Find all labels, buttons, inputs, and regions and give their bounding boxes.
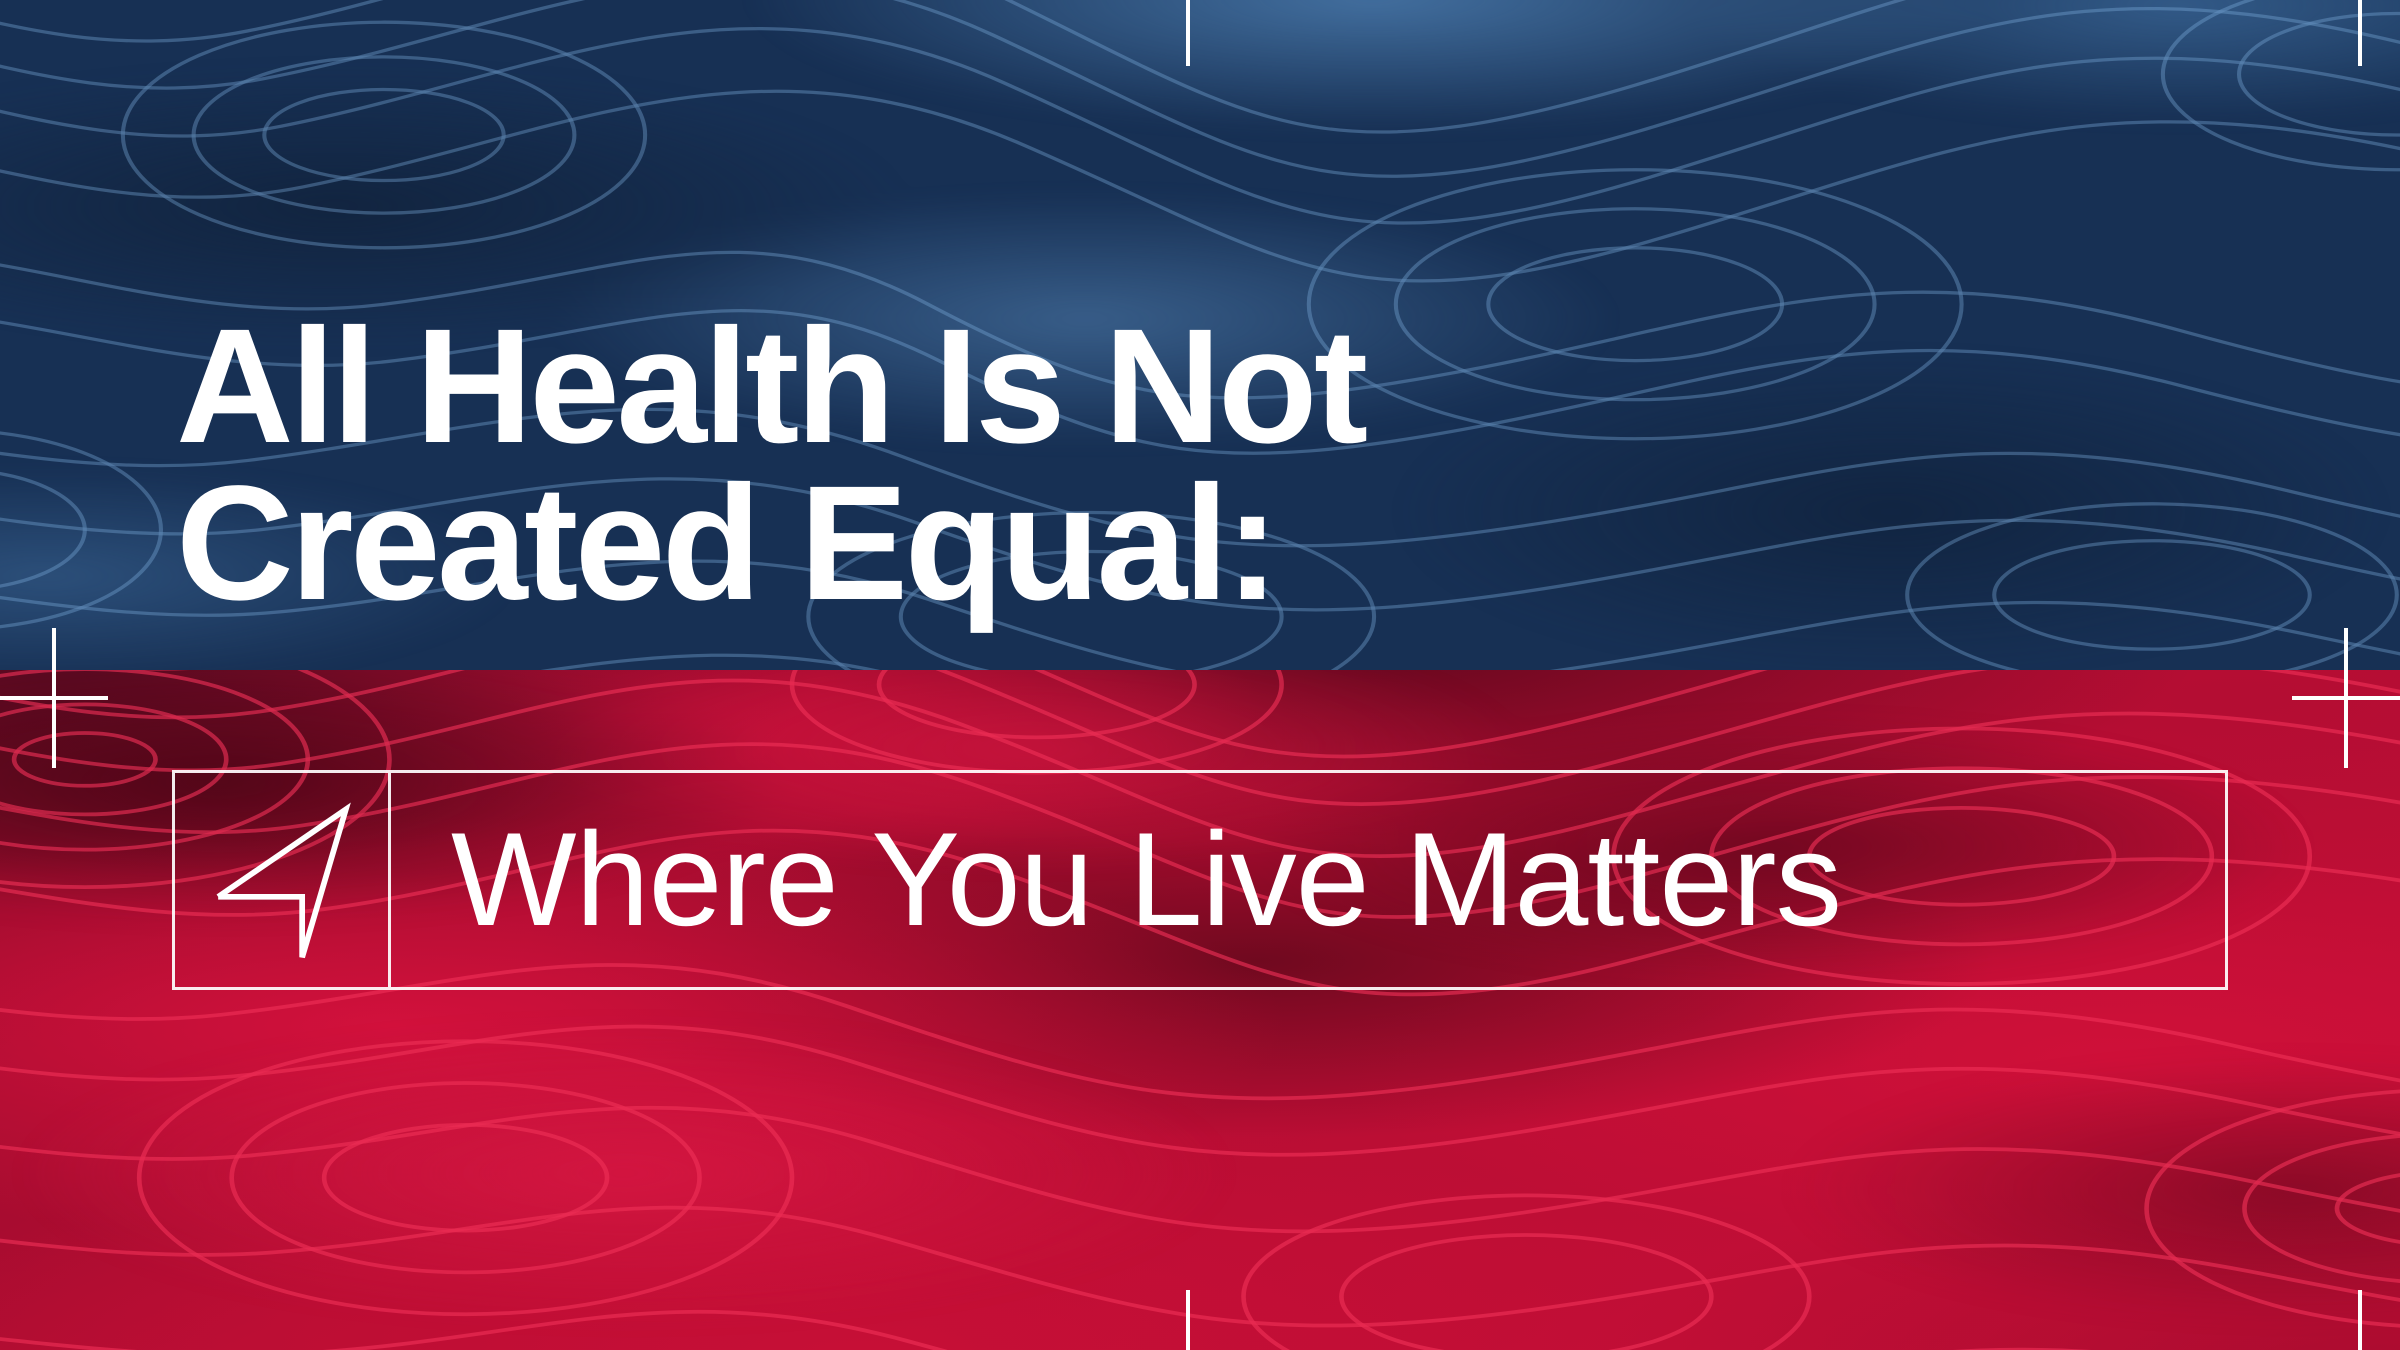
subtitle-bar: Where You Live Matters <box>172 770 2228 990</box>
subtitle-cell: Where You Live Matters <box>391 773 2225 987</box>
arrow-up-right-icon <box>198 796 366 964</box>
subtitle-text: Where You Live Matters <box>451 814 1841 947</box>
poster-canvas: All Health Is Not Created Equal: Where Y… <box>0 0 2400 1350</box>
logo-cell <box>175 773 391 987</box>
page-title: All Health Is Not Created Equal: <box>176 307 2076 622</box>
